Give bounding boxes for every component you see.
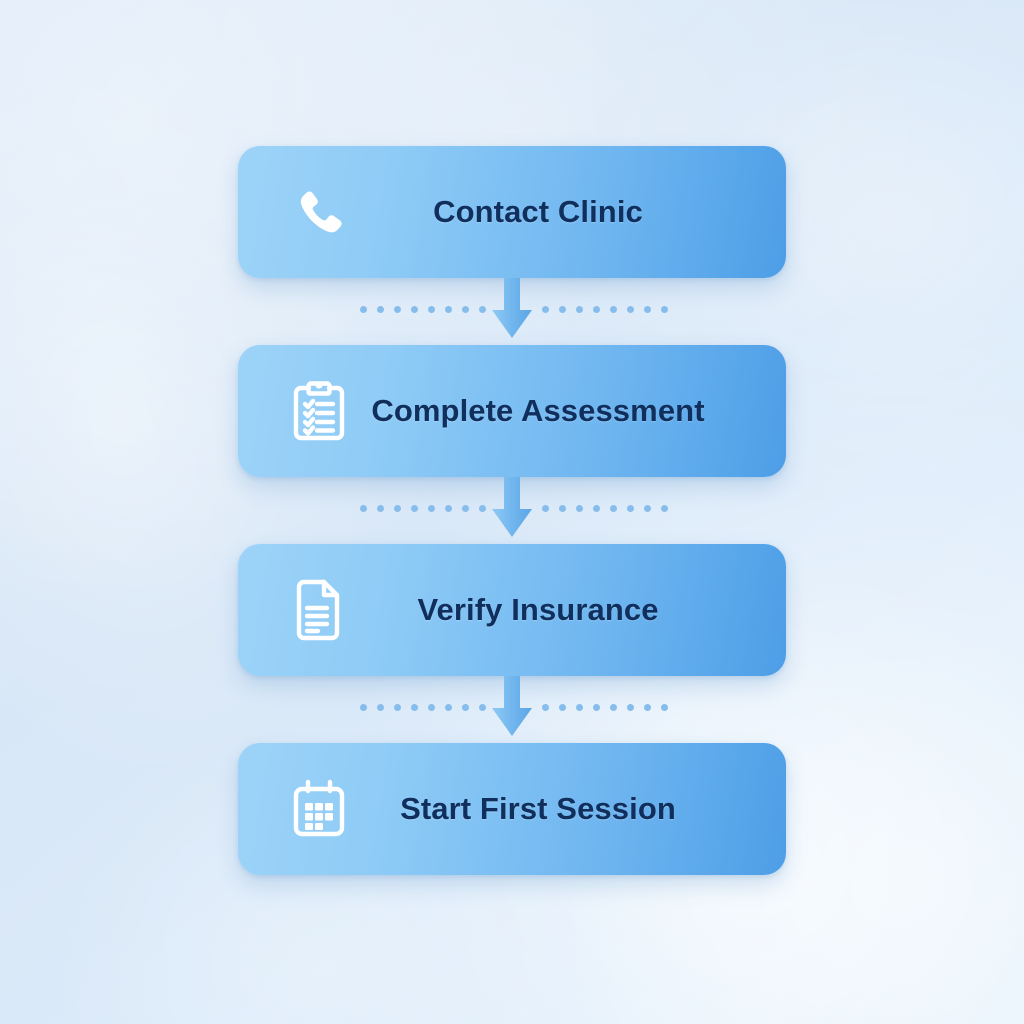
dot (610, 306, 617, 313)
dot (576, 505, 583, 512)
connector-dots-left (360, 306, 486, 313)
dot (445, 505, 452, 512)
arrow-down-icon (484, 676, 540, 738)
dot (479, 704, 486, 711)
dot (411, 505, 418, 512)
dot (394, 505, 401, 512)
step-card-complete-assessment[interactable]: Complete Assessment (238, 345, 786, 477)
dot (377, 306, 384, 313)
dot (542, 505, 549, 512)
connector-dots-right (542, 505, 668, 512)
dot (559, 505, 566, 512)
step-card-start-first-session[interactable]: Start First Session (238, 743, 786, 875)
document-icon (286, 574, 352, 646)
connector-dots-right (542, 306, 668, 313)
dot (360, 704, 367, 711)
step-label: Verify Insurance (352, 592, 786, 628)
connector-dots-left (360, 505, 486, 512)
dot (559, 704, 566, 711)
dot (661, 704, 668, 711)
dot (576, 704, 583, 711)
dot (428, 505, 435, 512)
flow-step-3: Verify Insurance (238, 544, 786, 676)
arrow-down-icon (484, 477, 540, 539)
dot (661, 505, 668, 512)
dot (394, 306, 401, 313)
flow-connector-2 (238, 477, 786, 544)
dot (644, 704, 651, 711)
dot (445, 306, 452, 313)
dot (445, 704, 452, 711)
connector-dots-right (542, 704, 668, 711)
flowchart-canvas: Contact Clinic (0, 0, 1024, 1024)
clipboard-checklist-icon (286, 375, 352, 447)
dot (644, 505, 651, 512)
dot (377, 505, 384, 512)
connector-dots-left (360, 704, 486, 711)
dot (593, 505, 600, 512)
dot (627, 306, 634, 313)
step-label: Contact Clinic (352, 194, 786, 230)
dot (610, 505, 617, 512)
dot (360, 505, 367, 512)
phone-icon (286, 176, 352, 248)
dot (593, 306, 600, 313)
flow-step-1: Contact Clinic (238, 146, 786, 278)
dot (462, 306, 469, 313)
dot (428, 704, 435, 711)
flow-step-4: Start First Session (238, 743, 786, 875)
flow-connector-1 (238, 278, 786, 345)
dot (593, 704, 600, 711)
dot (411, 704, 418, 711)
calendar-icon (286, 773, 352, 845)
dot (377, 704, 384, 711)
step-card-contact-clinic[interactable]: Contact Clinic (238, 146, 786, 278)
dot (411, 306, 418, 313)
arrow-down-icon (484, 278, 540, 340)
dot (644, 306, 651, 313)
flow-connector-3 (238, 676, 786, 743)
dot (479, 505, 486, 512)
step-card-verify-insurance[interactable]: Verify Insurance (238, 544, 786, 676)
dot (542, 306, 549, 313)
dot (542, 704, 549, 711)
dot (627, 704, 634, 711)
dot (610, 704, 617, 711)
dot (462, 505, 469, 512)
step-label: Start First Session (352, 791, 786, 827)
dot (576, 306, 583, 313)
dot (428, 306, 435, 313)
step-label: Complete Assessment (352, 393, 786, 429)
onboarding-flow: Contact Clinic (238, 146, 786, 875)
dot (394, 704, 401, 711)
dot (479, 306, 486, 313)
dot (661, 306, 668, 313)
dot (360, 306, 367, 313)
flow-step-2: Complete Assessment (238, 345, 786, 477)
dot (462, 704, 469, 711)
dot (627, 505, 634, 512)
dot (559, 306, 566, 313)
